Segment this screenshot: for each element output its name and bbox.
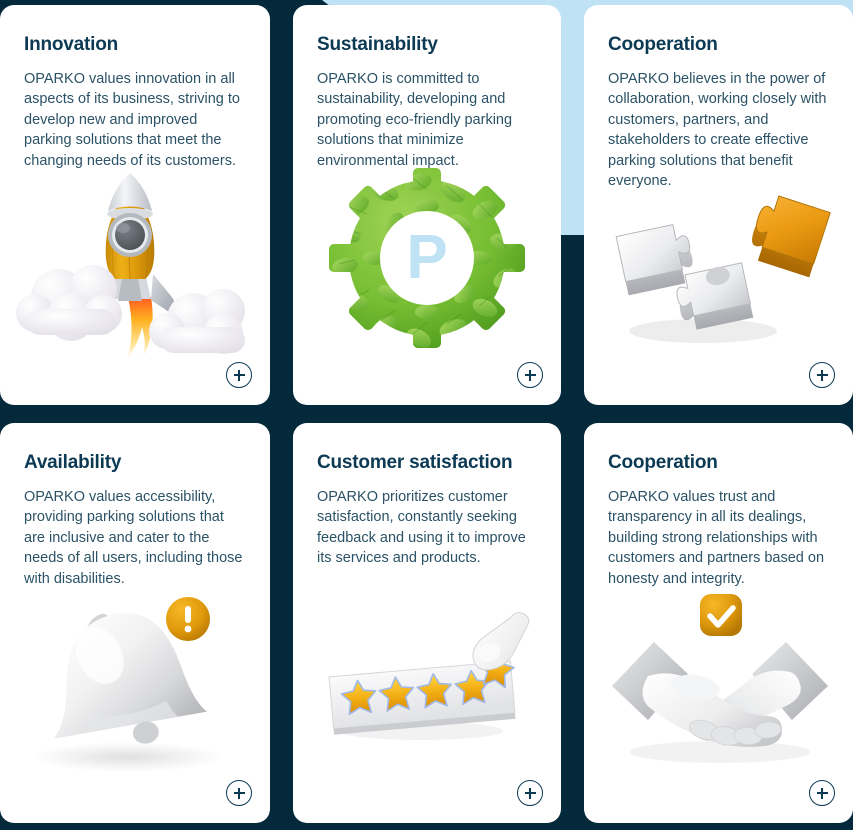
card-title: Cooperation xyxy=(608,35,829,56)
expand-card-button[interactable] xyxy=(226,780,252,806)
expand-card-button[interactable] xyxy=(517,362,543,388)
card-title: Innovation xyxy=(24,35,246,56)
leaf-gear-illustration: P xyxy=(293,153,561,363)
plus-icon-vertical xyxy=(238,788,239,799)
notification-bell-illustration xyxy=(0,579,270,789)
plus-icon-vertical xyxy=(821,370,822,381)
card-description: OPARKO values trust and transparency in … xyxy=(608,487,829,590)
expand-card-button[interactable] xyxy=(809,362,835,388)
expand-card-button[interactable] xyxy=(809,780,835,806)
puzzle-pieces-illustration xyxy=(584,161,853,371)
plus-icon-vertical xyxy=(238,370,239,381)
card-description: OPARKO prioritizes customer satisfaction… xyxy=(317,487,537,569)
plus-icon-vertical xyxy=(529,788,530,799)
plus-icon-vertical xyxy=(529,370,530,381)
cards-grid: Innovation OPARKO values innovation in a… xyxy=(0,0,853,830)
expand-card-button[interactable] xyxy=(517,780,543,806)
value-card-customer-satisfaction[interactable]: Customer satisfaction OPARKO prioritizes… xyxy=(293,423,561,823)
card-description: OPARKO values accessibility, providing p… xyxy=(24,487,246,590)
plus-icon-vertical xyxy=(821,788,822,799)
card-title: Availability xyxy=(24,453,246,474)
card-description: OPARKO believes in the power of collabor… xyxy=(608,69,829,192)
rocket-launch-illustration xyxy=(0,161,270,371)
value-card-innovation[interactable]: Innovation OPARKO values innovation in a… xyxy=(0,5,270,405)
card-description: OPARKO is committed to sustainability, d… xyxy=(317,69,537,172)
value-card-sustainability[interactable]: Sustainability OPARKO is committed to su… xyxy=(293,5,561,405)
value-card-cooperation-top[interactable]: Cooperation OPARKO believes in the power… xyxy=(584,5,853,405)
handshake-illustration xyxy=(584,579,853,789)
card-title: Sustainability xyxy=(317,35,537,56)
gear-center-letter: P xyxy=(406,223,447,292)
expand-card-button[interactable] xyxy=(226,362,252,388)
value-card-availability[interactable]: Availability OPARKO values accessibility… xyxy=(0,423,270,823)
value-card-cooperation-bottom[interactable]: Cooperation OPARKO values trust and tran… xyxy=(584,423,853,823)
values-cards-page: Innovation OPARKO values innovation in a… xyxy=(0,0,853,830)
card-title: Customer satisfaction xyxy=(317,453,537,474)
card-title: Cooperation xyxy=(608,453,829,474)
card-description: OPARKO values innovation in all aspects … xyxy=(24,69,246,172)
five-star-rating-illustration xyxy=(293,579,561,789)
